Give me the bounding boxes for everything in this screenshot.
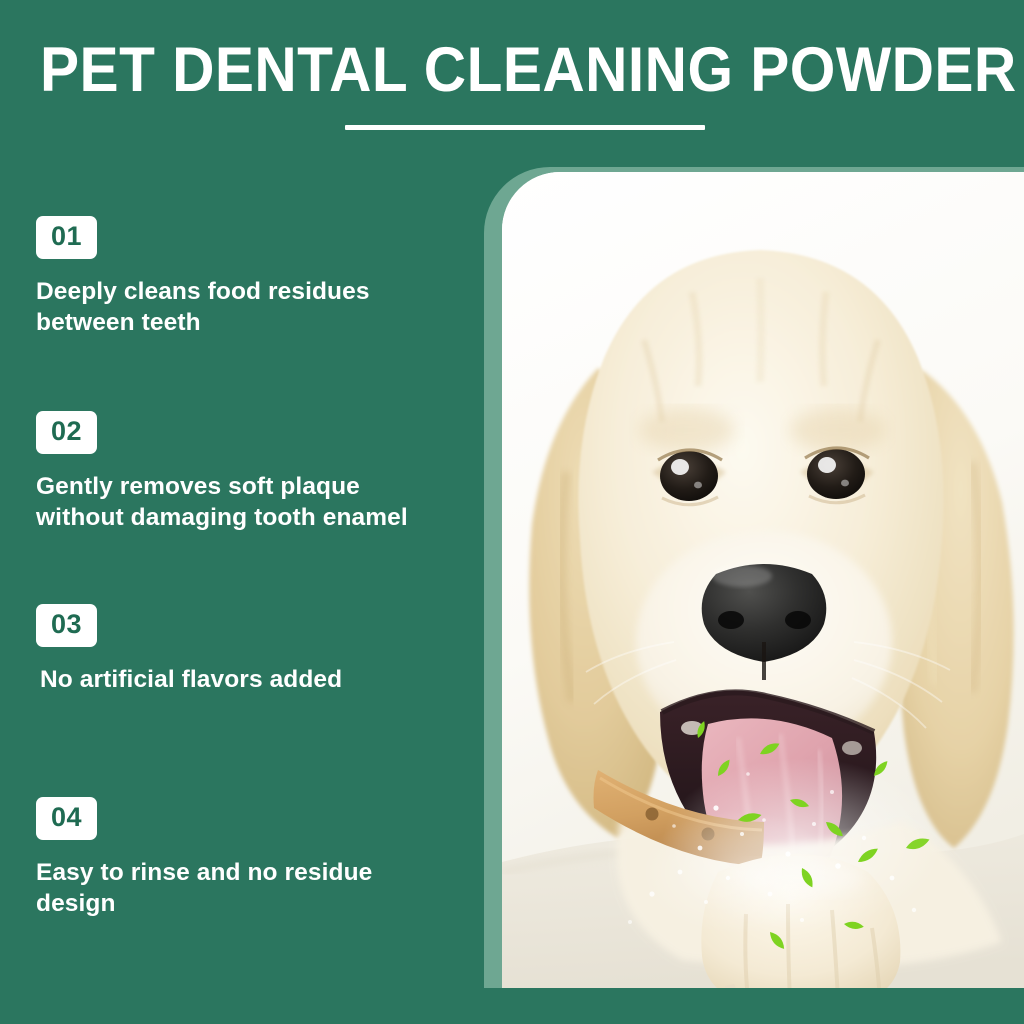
feature-number-badge: 03: [36, 604, 97, 647]
puppy-illustration: [502, 172, 1024, 988]
feature-item-03: 03 No artificial flavors added: [36, 604, 466, 695]
puppy-photo: [502, 172, 1024, 988]
feature-number-badge: 02: [36, 411, 97, 454]
feature-description: No artificial flavors added: [36, 664, 466, 695]
pet-dental-powder-poster: PET DENTAL CLEANING POWDER 01 Deeply cle…: [0, 0, 1024, 1024]
product-photo-panel: [502, 172, 1024, 988]
feature-description: Gently removes soft plaque without damag…: [36, 471, 466, 533]
feature-list: 01 Deeply cleans food residues between t…: [0, 0, 480, 1024]
feature-item-04: 04 Easy to rinse and no residue design: [36, 797, 466, 919]
feature-description: Deeply cleans food residues between teet…: [36, 276, 466, 338]
feature-number-badge: 04: [36, 797, 97, 840]
feature-description: Easy to rinse and no residue design: [36, 857, 466, 919]
feature-item-01: 01 Deeply cleans food residues between t…: [36, 216, 466, 338]
feature-item-02: 02 Gently removes soft plaque without da…: [36, 411, 466, 533]
feature-number-badge: 01: [36, 216, 97, 259]
